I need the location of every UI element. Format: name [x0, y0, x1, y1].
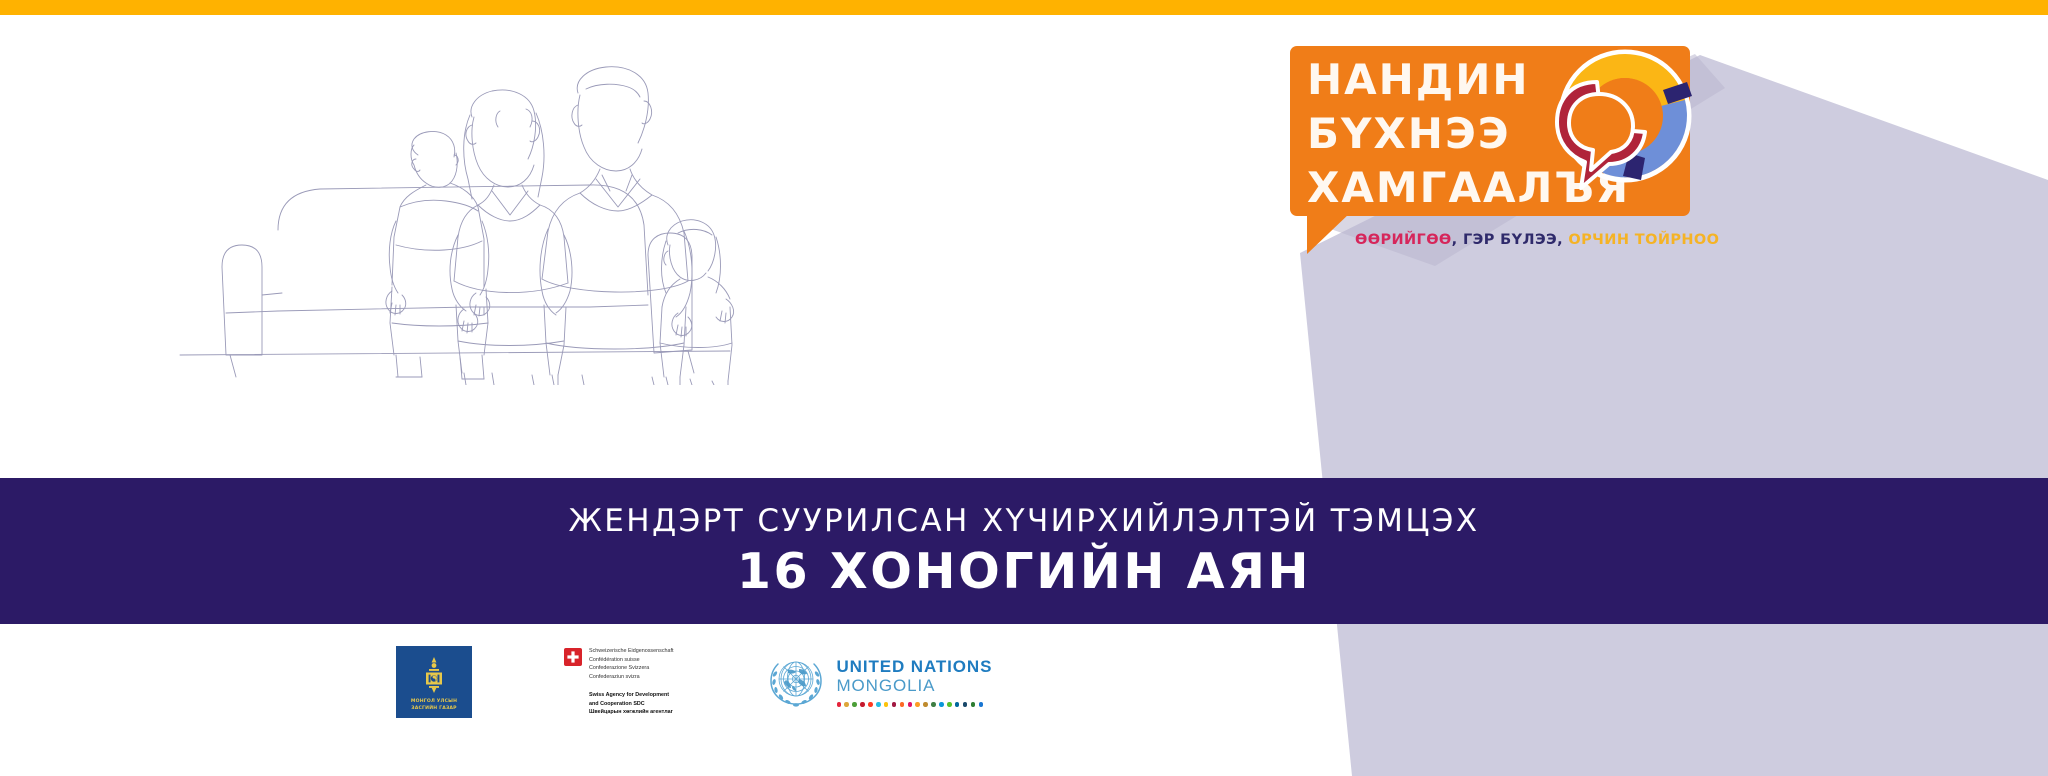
sdg-dot-13: [931, 702, 936, 707]
sdg-dot-6: [876, 702, 881, 707]
swiss-line-rm: Confederaziun svizra: [589, 673, 674, 682]
un-line-1: UNITED NATIONS: [837, 657, 993, 676]
swiss-line-it: Confederazione Svizzera: [589, 664, 674, 673]
sdg-dot-16: [955, 702, 960, 707]
sdg-dot-17: [963, 702, 968, 707]
tagline-part-3: ОРЧИН ТОЙРНОО: [1568, 232, 1719, 248]
sdg-dot-12: [923, 702, 928, 707]
swiss-cross-icon: [564, 648, 582, 666]
family-on-sofa-illustration: [170, 55, 790, 385]
swiss-line-fr: Confédération suisse: [589, 656, 674, 665]
sdg-dot-15: [947, 702, 952, 707]
tagline-sep-1: ,: [1452, 232, 1463, 248]
sdg-dot-18: [971, 702, 976, 707]
swiss-confederation-sdc-logo: Schweizerische Eidgenossenschaft Confédé…: [564, 647, 674, 717]
swiss-agency-line-2: and Cooperation SDC: [589, 700, 674, 709]
sdg-color-dots: [837, 702, 993, 707]
tagline-part-1: ӨӨРИЙГӨӨ: [1355, 232, 1452, 248]
sdg-dot-19: [979, 702, 984, 707]
logo-tagline: ӨӨРИЙГӨӨ, ГЭР БҮЛЭЭ, ОРЧИН ТОЙРНОО: [1355, 232, 1719, 248]
sdg-dot-14: [939, 702, 944, 707]
tagline-sep-2: ,: [1557, 232, 1568, 248]
united-nations-mongolia-logo: UNITED NATIONS MONGOLIA: [766, 652, 993, 712]
banner-title: 16 ХОНОГИЙН АЯН: [737, 543, 1311, 600]
sdg-dot-8: [892, 702, 897, 707]
tagline-part-2: ГЭР БҮЛЭЭ: [1463, 232, 1557, 248]
swiss-line-de: Schweizerische Eidgenossenschaft: [589, 647, 674, 656]
sdg-dot-2: [844, 702, 849, 707]
swiss-agency-line-mn: Швейцарын хөгжлийн агентлаг: [589, 708, 674, 717]
sdg-dot-4: [860, 702, 865, 707]
campaign-logo: НАНДИН БҮХНЭЭ ХАМГААЛЪЯ ӨӨРИЙГӨӨ, ГЭР БҮ…: [1285, 36, 1725, 281]
campaign-banner-page: { "theme": { "top_bar_color": "#FFB200",…: [0, 0, 2048, 776]
sdg-dot-9: [900, 702, 905, 707]
un-logo-text: UNITED NATIONS MONGOLIA: [837, 657, 993, 707]
banner-subtitle: ЖЕНДЭРТ СУУРИЛСАН ХҮЧИРХИЙЛЭЛТЭЙ ТЭМЦЭХ: [569, 503, 1480, 539]
swiss-text-gap: [589, 682, 674, 691]
un-globe-laurel-emblem-icon: [766, 652, 826, 712]
sdg-dot-3: [852, 702, 857, 707]
top-accent-bar: [0, 0, 2048, 15]
logo-speech-tail: [1307, 212, 1351, 254]
mongolia-government-logo: МОНГОЛ УЛСЫН ЗАСГИЙН ГАЗАР: [396, 646, 472, 718]
sdg-dot-1: [837, 702, 842, 707]
mn-label-line-2: ЗАСГИЙН ГАЗАР: [411, 706, 457, 713]
sdg-dot-11: [915, 702, 920, 707]
sdg-dot-7: [884, 702, 889, 707]
sdg-dot-5: [868, 702, 873, 707]
swiss-agency-line-1: Swiss Agency for Development: [589, 691, 674, 700]
partner-logo-row: МОНГОЛ УЛСЫН ЗАСГИЙН ГАЗАР Schweizerisch…: [396, 646, 992, 718]
soyombo-symbol-icon: [419, 656, 449, 696]
un-line-2: MONGOLIA: [837, 676, 993, 695]
sdg-dot-10: [908, 702, 913, 707]
speech-bubble-circle-emblem: [1537, 38, 1702, 203]
partner-logos-footer: МОНГОЛ УЛСЫН ЗАСГИЙН ГАЗАР Schweizerisch…: [0, 624, 2048, 776]
mn-label-line-1: МОНГОЛ УЛСЫН: [411, 699, 457, 706]
campaign-banner-bar: ЖЕНДЭРТ СУУРИЛСАН ХҮЧИРХИЙЛЭЛТЭЙ ТЭМЦЭХ …: [0, 478, 2048, 624]
mongolia-government-label: МОНГОЛ УЛСЫН ЗАСГИЙН ГАЗАР: [411, 699, 457, 712]
swiss-logo-text: Schweizerische Eidgenossenschaft Confédé…: [589, 647, 674, 717]
